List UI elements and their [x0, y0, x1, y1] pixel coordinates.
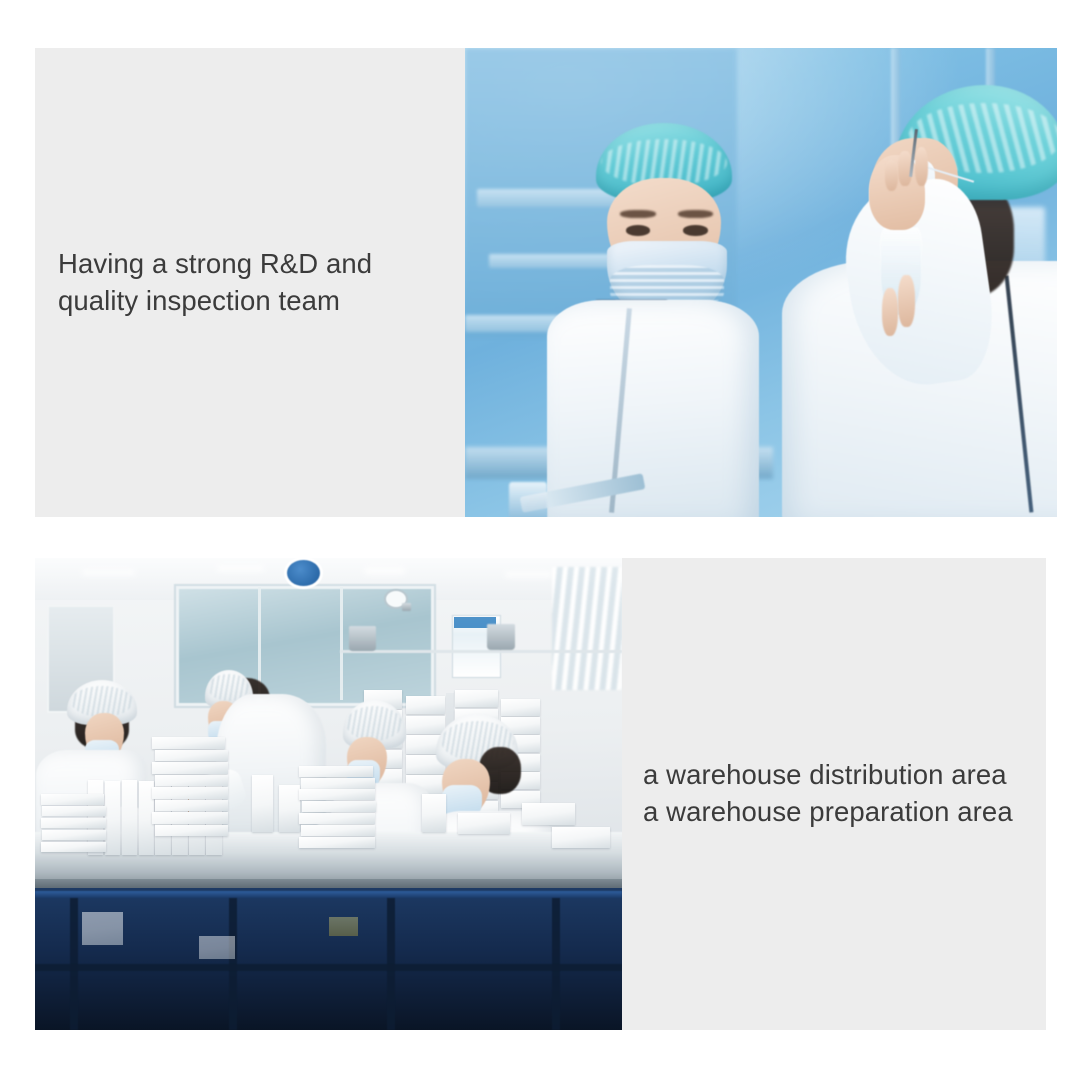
section-rd-quality: Having a strong R&D and quality inspecti… [35, 48, 1057, 517]
shelf-edge [340, 650, 622, 653]
table-cross-brace [35, 964, 622, 971]
box-on-table [552, 827, 611, 848]
page-root: Having a strong R&D and quality inspecti… [0, 0, 1080, 1080]
paper-under-table [199, 936, 234, 960]
plastic-curtain [552, 567, 622, 690]
box-stack-left [152, 737, 269, 841]
table-edge [35, 879, 622, 888]
ceiling-light [505, 572, 552, 577]
yellow-tape-marker [329, 917, 358, 936]
eye [626, 225, 651, 235]
steel-container [349, 626, 376, 651]
warehouse-packing-photo [35, 558, 622, 1030]
caption-text-rd-quality: Having a strong R&D and quality inspecti… [58, 246, 372, 319]
finger [882, 288, 899, 336]
eye [683, 225, 708, 235]
beaker [509, 482, 547, 517]
paper-under-table [82, 912, 123, 945]
table-underside [35, 888, 622, 1030]
box-on-table [522, 803, 575, 824]
upright-carton [279, 785, 300, 832]
box-stack-center [299, 766, 405, 851]
lab-worker-right [749, 76, 1057, 517]
section-warehouse: a warehouse distribution area a warehous… [35, 558, 1046, 1030]
eyebrow [620, 210, 655, 219]
ceiling-light [364, 568, 405, 573]
caption-panel-warehouse: a warehouse distribution area a warehous… [622, 558, 1046, 1030]
finger [898, 275, 915, 328]
caption-panel-rd-quality: Having a strong R&D and quality inspecti… [35, 48, 465, 517]
lab-quality-inspection-photo [465, 48, 1057, 517]
caption-text-warehouse: a warehouse distribution area a warehous… [643, 757, 1013, 830]
finger [915, 147, 928, 187]
table-frame-bar [35, 891, 622, 899]
small-object [402, 603, 411, 611]
ceiling-light [217, 566, 264, 571]
steel-container [487, 624, 515, 649]
ceiling-light [82, 570, 135, 576]
box-stack-far-left [41, 794, 111, 860]
upright-carton [422, 794, 445, 832]
box-on-table [458, 813, 511, 834]
eyebrow [678, 210, 713, 219]
finger [885, 160, 898, 191]
